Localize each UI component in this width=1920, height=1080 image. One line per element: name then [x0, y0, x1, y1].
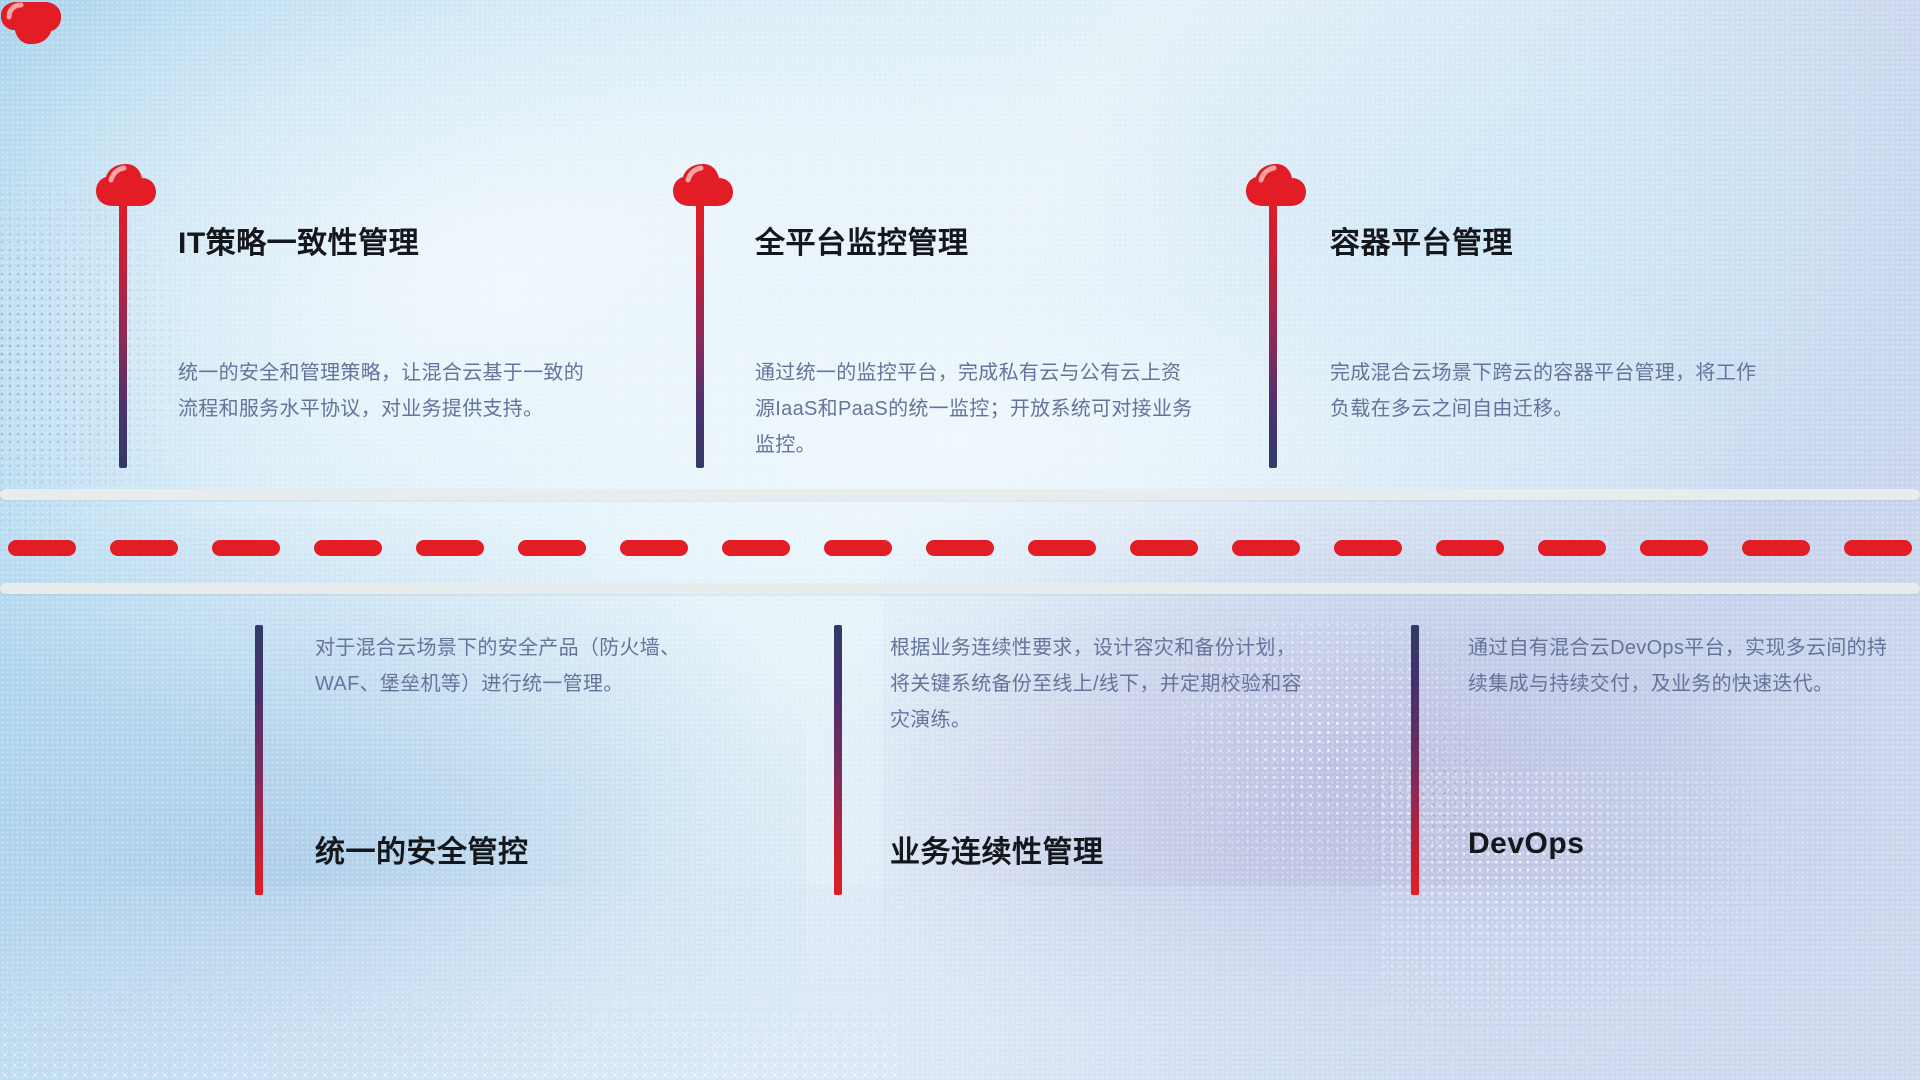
divider-dash	[1028, 540, 1096, 556]
bottom-heading-2: 业务连续性管理	[890, 827, 1104, 871]
top-body-2: 通过统一的监控平台，完成私有云与公有云上资源IaaS和PaaS的统一监控；开放系…	[755, 355, 1195, 463]
divider-dash	[620, 540, 688, 556]
top-body-3: 完成混合云场景下跨云的容器平台管理，将工作负载在多云之间自由迁移。	[1330, 355, 1760, 427]
dot-cluster-bottom	[0, 930, 900, 1080]
bottom-body-3: 通过自有混合云DevOps平台，实现多云间的持续集成与持续交付，及业务的快速迭代…	[1468, 630, 1888, 702]
divider-dash	[1232, 540, 1300, 556]
bottom-body-2: 根据业务连续性要求，设计容灾和备份计划，将关键系统备份至线上/线下，并定期校验和…	[890, 630, 1310, 738]
divider-dash	[1538, 540, 1606, 556]
divider-dash	[1640, 540, 1708, 556]
divider-dash	[110, 540, 178, 556]
connector-line	[119, 200, 127, 468]
divider-dash	[722, 540, 790, 556]
divider-dash	[926, 540, 994, 556]
bottom-body-1: 对于混合云场景下的安全产品（防火墙、WAF、堡垒机等）进行统一管理。	[315, 630, 735, 702]
divider-dash	[1436, 540, 1504, 556]
connector-line	[696, 200, 704, 468]
bottom-heading-1: 统一的安全管控	[315, 827, 529, 871]
top-heading-3: 容器平台管理	[1330, 218, 1513, 262]
connector-line	[834, 625, 842, 895]
dot-cluster-red	[1340, 700, 1540, 900]
divider-rail-bottom	[0, 583, 1920, 594]
top-body-1: 统一的安全和管理策略，让混合云基于一致的流程和服务水平协议，对业务提供支持。	[178, 355, 603, 427]
infographic-canvas: IT策略一致性管理 统一的安全和管理策略，让混合云基于一致的流程和服务水平协议，…	[0, 0, 1920, 1080]
bottom-column-3: 通过自有混合云DevOps平台，实现多云间的持续集成与持续交付，及业务的快速迭代…	[0, 0, 58, 44]
divider-dash	[212, 540, 280, 556]
divider-dash	[8, 540, 76, 556]
divider-dash	[1742, 540, 1810, 556]
divider-dashed-line	[0, 540, 1920, 556]
connector-line	[255, 625, 263, 895]
top-heading-1: IT策略一致性管理	[178, 218, 419, 262]
connector-line	[1411, 625, 1419, 895]
divider-dash	[314, 540, 382, 556]
divider-dash	[1844, 540, 1912, 556]
divider-rail-top	[0, 489, 1920, 500]
cloud-icon	[0, 0, 58, 44]
divider-dash	[416, 540, 484, 556]
divider-dash	[1334, 540, 1402, 556]
bottom-heading-3: DevOps	[1468, 827, 1584, 861]
connector-line	[1269, 200, 1277, 468]
divider-dash	[824, 540, 892, 556]
divider-dash	[1130, 540, 1198, 556]
divider-dash	[518, 540, 586, 556]
top-heading-2: 全平台监控管理	[755, 218, 969, 262]
